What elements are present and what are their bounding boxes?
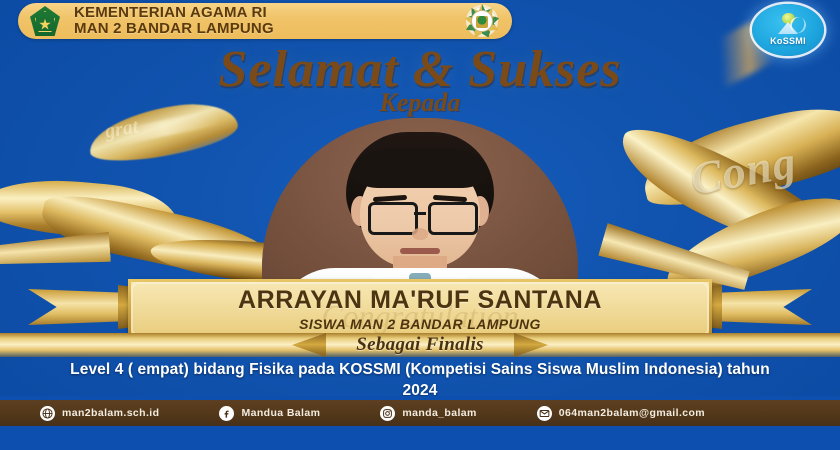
facebook-icon [219,406,234,421]
page-subtitle: Kepada [0,88,840,118]
name-banner-group: Congratulation ARRAYAN MA'RUF SANTANA SI… [0,279,840,337]
ribbon-text-left: grat [103,115,140,143]
ribbon-text-right: Cong [687,127,840,205]
ministry-header-bar: KEMENTERIAN AGAMA RI MAN 2 BANDAR LAMPUN… [18,3,512,39]
bottom-blue-strip [0,426,840,450]
email-icon [537,406,552,421]
gold-ribbon-left-tail [0,232,111,270]
student-portrait [262,118,578,290]
kemenag-logo-icon [30,6,60,36]
school-emblem-icon [466,5,498,37]
globe-icon [40,406,55,421]
congratulation-poster: grat Cong KEMENTERIAN AGAMA RI MAN 2 BAN… [0,0,840,450]
footer-facebook-label: Mandua Balam [241,407,320,419]
ministry-line-1: KEMENTERIAN AGAMA RI [74,4,267,21]
portrait-fringe [353,148,487,188]
footer-bar: man2balam.sch.id Mandua Balam manda_bala… [0,400,840,426]
awardee-name: ARRAYAN MA'RUF SANTANA [238,286,602,315]
footer-item-email[interactable]: 064man2balam@gmail.com [537,406,705,421]
gold-ribbon-right-b [608,113,840,270]
footer-item-instagram[interactable]: manda_balam [380,406,476,421]
portrait-mouth [400,248,440,254]
portrait-glasses-left [368,202,418,235]
portrait-nose [412,228,428,240]
footer-item-facebook[interactable]: Mandua Balam [219,406,320,421]
portrait-glasses-bridge [414,212,426,215]
footer-website-label: man2balam.sch.id [62,407,159,419]
footer-instagram-label: manda_balam [402,407,476,419]
name-banner: Congratulation ARRAYAN MA'RUF SANTANA SI… [128,279,712,339]
gold-ribbon-left-a [0,174,185,245]
kossmi-figure-icon [775,13,801,35]
footer-email-label: 064man2balam@gmail.com [559,407,705,419]
instagram-icon [380,406,395,421]
gold-ribbon-left-b [37,187,273,286]
awardee-school: SISWA MAN 2 BANDAR LAMPUNG [299,316,541,332]
portrait-glasses-right [428,202,478,235]
category-label: Sebagai Finalis [0,334,840,356]
footer-item-website[interactable]: man2balam.sch.id [40,406,159,421]
ministry-title: KEMENTERIAN AGAMA RI MAN 2 BANDAR LAMPUN… [74,5,466,37]
ministry-line-2: MAN 2 BANDAR LAMPUNG [74,21,466,37]
